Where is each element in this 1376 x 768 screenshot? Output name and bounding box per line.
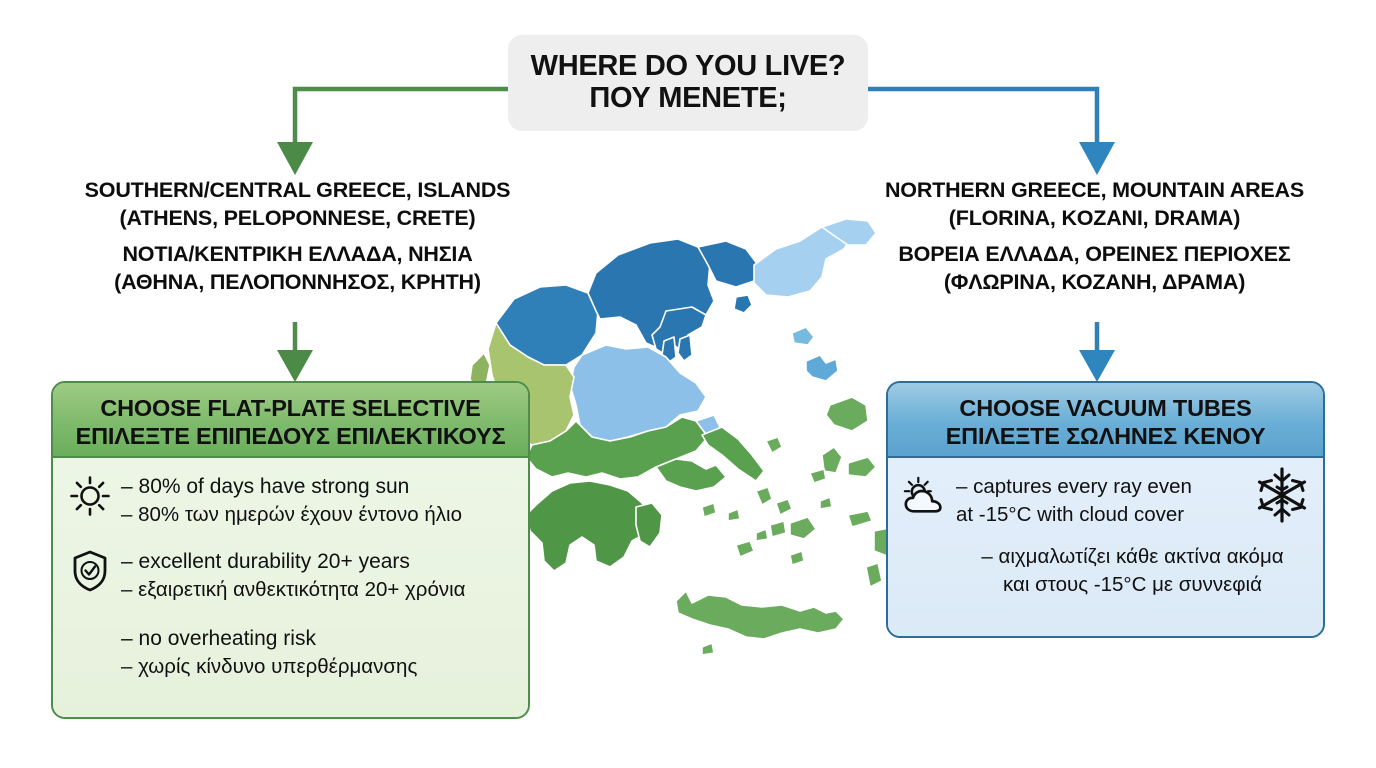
- map-island-kos: [848, 511, 872, 527]
- branch-left-el-2: (ΑΘΗΝΑ, ΠΕΛΟΠΟΝΝΗΣΟΣ, ΚΡΗΤΗ): [35, 268, 560, 296]
- benefit-capture-el-1: – αιχμαλωτίζει κάθε ακτίνα ακόμα: [956, 543, 1309, 571]
- map-island-small-c: [820, 497, 832, 509]
- benefit-row-cloud-capture-el: – αιχμαλωτίζει κάθε ακτίνα ακόμα και στο…: [902, 542, 1309, 598]
- recommendation-card-vacuum-tubes: CHOOSE VACUUM TUBES ΕΠΙΛΕΞΤΕ ΣΩΛΗΝΕΣ ΚΕΝ…: [886, 381, 1325, 638]
- sun-icon: [67, 472, 113, 520]
- branch-right-en-2: (FLORINA, KOZANI, DRAMA): [832, 204, 1357, 232]
- map-region-lesvos-blue: [806, 355, 838, 381]
- benefit-row-overheating: – no overheating risk – χωρίς κίνδυνο υπ…: [67, 624, 514, 681]
- benefit-sun-en: – 80% of days have strong sun: [121, 473, 462, 501]
- map-island-small-d: [756, 529, 768, 541]
- map-island-samos: [848, 457, 876, 477]
- branch-right-el-2: (ΦΛΩΡΙΝΑ, ΚΟΖΑΝΗ, ΔΡΑΜΑ): [832, 268, 1357, 296]
- arrowhead-right-branch: [1079, 142, 1115, 175]
- arrowhead-right-card: [1079, 350, 1115, 382]
- map-island-milos: [736, 541, 754, 557]
- map-island-crete: [676, 591, 844, 639]
- benefit-text-durability: – excellent durability 20+ years – εξαιρ…: [121, 547, 466, 604]
- map-island-chios: [822, 447, 842, 473]
- arrowhead-left-card: [277, 350, 313, 382]
- map-island-santorini: [790, 551, 804, 565]
- map-region-peloponnese: [526, 481, 652, 571]
- benefit-row-cloud-capture: – captures every ray even at -15°C with …: [902, 472, 1309, 528]
- branch-left-en-2: (ATHENS, PELOPONNESE, CRETE): [35, 204, 560, 232]
- map-island-skyros: [766, 437, 782, 453]
- map-island-paros: [770, 521, 786, 537]
- map-region-attica: [656, 459, 726, 491]
- green-card-header: CHOOSE FLAT-PLATE SELECTIVE ΕΠΙΛΕΞΤΕ ΕΠΙ…: [53, 383, 528, 458]
- map-region-chalkidiki-finger-b: [678, 335, 692, 361]
- benefit-capture-en-1: – captures every ray even: [956, 473, 1192, 501]
- benefit-text-cloud-capture: – captures every ray even at -15°C with …: [956, 472, 1192, 528]
- benefit-durability-el: – εξαιρετική ανθεκτικότητα 20+ χρόνια: [121, 576, 466, 604]
- snowflake-icon: [1251, 464, 1313, 526]
- benefit-icon-placeholder: [67, 624, 113, 672]
- green-card-header-el: ΕΠΙΛΕΞΤΕ ΕΠΙΠΕΔΟΥΣ ΕΠΙΛΕΚΤΙΚΟΥΣ: [63, 423, 518, 451]
- blue-card-header: CHOOSE VACUUM TUBES ΕΠΙΛΕΞΤΕ ΣΩΛΗΝΕΣ ΚΕΝ…: [888, 383, 1323, 458]
- map-region-limnos: [792, 327, 814, 345]
- branch-left-el-1: ΝΟΤΙΑ/ΚΕΝΤΡΙΚΗ ΕΛΛΑΔΑ, ΝΗΣΙΑ: [35, 240, 560, 268]
- map-island-naxos: [790, 517, 816, 539]
- recommendation-card-flat-plate: CHOOSE FLAT-PLATE SELECTIVE ΕΠΙΛΕΞΤΕ ΕΠΙ…: [51, 381, 530, 719]
- page-title-el: ΠΟΥ ΜΕΝΕΤΕ;: [589, 82, 786, 114]
- map-island-small-b: [702, 503, 716, 517]
- benefit-row-durability: – excellent durability 20+ years – εξαιρ…: [67, 547, 514, 604]
- page-title-en: WHERE DO YOU LIVE?: [531, 51, 846, 82]
- map-region-macedonia-central: [588, 239, 714, 351]
- connector-left-elbow: [295, 89, 508, 150]
- benefit-sun-el: – 80% των ημερών έχουν έντονο ήλιο: [121, 501, 462, 529]
- benefit-overheating-en: – no overheating risk: [121, 625, 417, 653]
- shield-check-icon: [67, 547, 113, 595]
- arrowhead-left-branch: [277, 142, 313, 175]
- map-island-gavdos: [702, 643, 714, 655]
- benefit-text-sun: – 80% of days have strong sun – 80% των …: [121, 472, 462, 529]
- sun-cloud-icon: [902, 472, 948, 520]
- map-region-thasos: [734, 295, 752, 313]
- map-region-peloponnese-east: [636, 503, 662, 547]
- map-island-tinos: [776, 499, 792, 515]
- map-island-karpathos: [866, 563, 882, 587]
- green-card-header-en: CHOOSE FLAT-PLATE SELECTIVE: [63, 395, 518, 423]
- benefit-durability-en: – excellent durability 20+ years: [121, 548, 466, 576]
- branch-right-en-1: NORTHERN GREECE, MOUNTAIN AREAS: [832, 176, 1357, 204]
- branch-left-en-1: SOUTHERN/CENTRAL GREECE, ISLANDS: [35, 176, 560, 204]
- blue-card-body: – captures every ray even at -15°C with …: [888, 458, 1323, 636]
- benefit-text-overheating: – no overheating risk – χωρίς κίνδυνο υπ…: [121, 624, 417, 681]
- question-title-box: WHERE DO YOU LIVE? ΠΟΥ ΜΕΝΕΤΕ;: [508, 35, 868, 131]
- benefit-row-sun: – 80% of days have strong sun – 80% των …: [67, 472, 514, 529]
- connector-right-elbow: [868, 89, 1097, 150]
- map-island-small-a: [728, 509, 740, 521]
- branch-label-left: SOUTHERN/CENTRAL GREECE, ISLANDS (ATHENS…: [35, 176, 560, 297]
- blue-card-header-el: ΕΠΙΛΕΞΤΕ ΣΩΛΗΝΕΣ ΚΕΝΟΥ: [898, 423, 1313, 451]
- benefit-icon-placeholder-blue: [902, 542, 948, 590]
- map-island-andros: [756, 487, 772, 505]
- benefit-capture-en-2: at -15°C with cloud cover: [956, 501, 1192, 529]
- benefit-capture-el-2: και στους -15°C με συννεφιά: [956, 571, 1309, 599]
- map-island-lesvos: [826, 397, 868, 431]
- benefit-text-cloud-capture-el: – αιχμαλωτίζει κάθε ακτίνα ακόμα και στο…: [956, 542, 1309, 598]
- green-card-body: – 80% of days have strong sun – 80% των …: [53, 458, 528, 717]
- map-island-ikaria: [810, 469, 826, 483]
- benefit-overheating-el: – χωρίς κίνδυνο υπερθέρμανσης: [121, 653, 417, 681]
- blue-card-header-en: CHOOSE VACUUM TUBES: [898, 395, 1313, 423]
- branch-right-el-1: ΒΟΡΕΙΑ ΕΛΛΑΔΑ, ΟΡΕΙΝΕΣ ΠΕΡΙΟΧΕΣ: [832, 240, 1357, 268]
- branch-label-right: NORTHERN GREECE, MOUNTAIN AREAS (FLORINA…: [832, 176, 1357, 297]
